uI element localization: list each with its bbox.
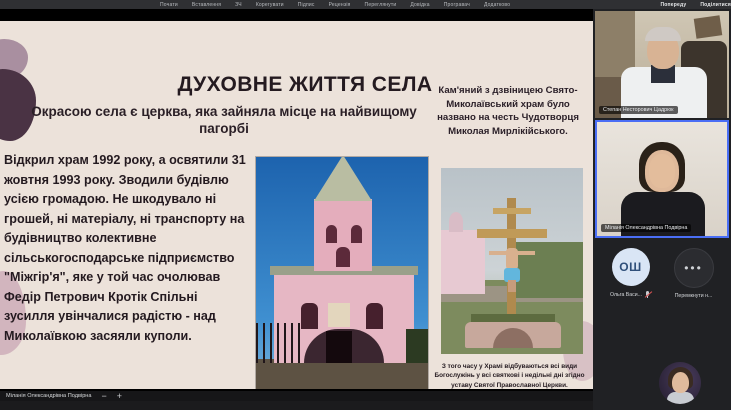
self-view-head: [672, 372, 689, 393]
meeting-window: Почати Вставлення ЗЧ Корегувати Підпис Р…: [0, 0, 731, 410]
cross-base: [465, 322, 561, 348]
church-spire: [314, 157, 372, 201]
slide-caption: З того часу у Храмі відбуваються всі вид…: [427, 362, 592, 389]
participant-video-tile[interactable]: Степан Несторович Цадрюк: [595, 11, 729, 118]
slide-side-text: Кам'яний з дзвіницею Свято- Миколаївськи…: [428, 84, 588, 138]
tower-window: [351, 225, 362, 243]
menu-item-retsenziia[interactable]: Рецензія: [329, 2, 351, 8]
participant-avatar-tile[interactable]: ОШ Ольга Васи...: [602, 248, 660, 298]
iron-fence: [256, 323, 304, 363]
avatar-name-label: Ольга Васи...: [610, 292, 642, 298]
wall-picture: [694, 15, 723, 38]
self-view-avatar[interactable]: [659, 362, 701, 404]
participant-name-label: Степан Несторович Цадрюк: [599, 106, 678, 114]
avatar: ОШ: [612, 248, 650, 286]
presentation-slide: ДУХОВНЕ ЖИТТЯ СЕЛА Окрасою села є церква…: [0, 21, 593, 389]
slide-title: ДУХОВНЕ ЖИТТЯ СЕЛА: [150, 73, 460, 97]
avatar-label-row: Ольга Васи...: [610, 291, 651, 298]
cross-titulus: [493, 208, 531, 214]
church-photo: [256, 157, 428, 389]
avatar-label-row: Перемкнути н...: [675, 293, 713, 299]
menu-item-dovidka[interactable]: Довідка: [410, 2, 429, 8]
mic-muted-icon: [645, 291, 651, 298]
participant-rail: Степан Несторович Цадрюк Міланія Олексан…: [593, 9, 731, 410]
christ-figure: [501, 248, 523, 292]
slide-subtitle: Окрасою села є церква, яка зайняла місце…: [14, 103, 434, 137]
cross-horizontal: [477, 229, 547, 238]
tower-window: [326, 225, 337, 243]
participant-name-label: Міланія Олександрівна Подвірна: [601, 224, 691, 232]
figure-torso: [506, 248, 518, 270]
crucifix-photo: [441, 168, 583, 354]
slide-body-text: Відкрил храм 1992 року, а освятили 31 жо…: [4, 151, 248, 346]
menu-item-pereglianuty[interactable]: Переглянути: [365, 2, 397, 8]
participant-video-tile-active[interactable]: Міланія Олександрівна Подвірна: [595, 120, 729, 238]
menu-item-pidpys[interactable]: Підпис: [298, 2, 315, 8]
participant-hair: [645, 27, 681, 41]
zoom-in-button[interactable]: +: [117, 392, 122, 401]
presentation-bottom-bar: Міланія Олександрівна Подвірна − +: [0, 391, 593, 401]
shared-screen-stage: ДУХОВНЕ ЖИТТЯ СЕЛА Окрасою села є церква…: [0, 9, 593, 401]
bush: [406, 329, 428, 363]
switch-view-label: Перемкнути н...: [675, 293, 713, 299]
presenter-name-label: Міланія Олександрівна Подвірна: [6, 393, 92, 399]
menu-item-dodatkovo[interactable]: Додатково: [484, 2, 510, 8]
ground: [256, 359, 428, 389]
app-menubar: Почати Вставлення ЗЧ Корегувати Підпис Р…: [0, 0, 731, 9]
menu-item-podilytysia[interactable]: Поділитися: [700, 2, 731, 8]
participant-face: [649, 154, 675, 188]
ellipsis-icon: •••: [674, 248, 714, 288]
chapel-building: [441, 230, 485, 294]
menu-item-vstavlennia[interactable]: Вставлення: [192, 2, 221, 8]
church-window: [366, 303, 383, 329]
church-door: [326, 331, 352, 363]
menu-item-programavach[interactable]: Програвач: [444, 2, 470, 8]
menu-item-poperedu[interactable]: Попереду: [660, 2, 686, 8]
figure-legs: [508, 280, 516, 292]
tower-window: [336, 247, 350, 267]
zoom-out-button[interactable]: −: [102, 392, 107, 401]
icon-plate: [328, 303, 350, 327]
menu-item-zch[interactable]: ЗЧ: [235, 2, 242, 8]
menu-item-pochaty[interactable]: Почати: [160, 2, 178, 8]
avatar-row: ОШ Ольга Васи... ••• Перемкнути н...: [593, 242, 731, 314]
more-participants-tile[interactable]: ••• Перемкнути н...: [665, 248, 723, 299]
menu-item-koreguvaty[interactable]: Корегувати: [256, 2, 284, 8]
self-view-body: [667, 392, 694, 404]
